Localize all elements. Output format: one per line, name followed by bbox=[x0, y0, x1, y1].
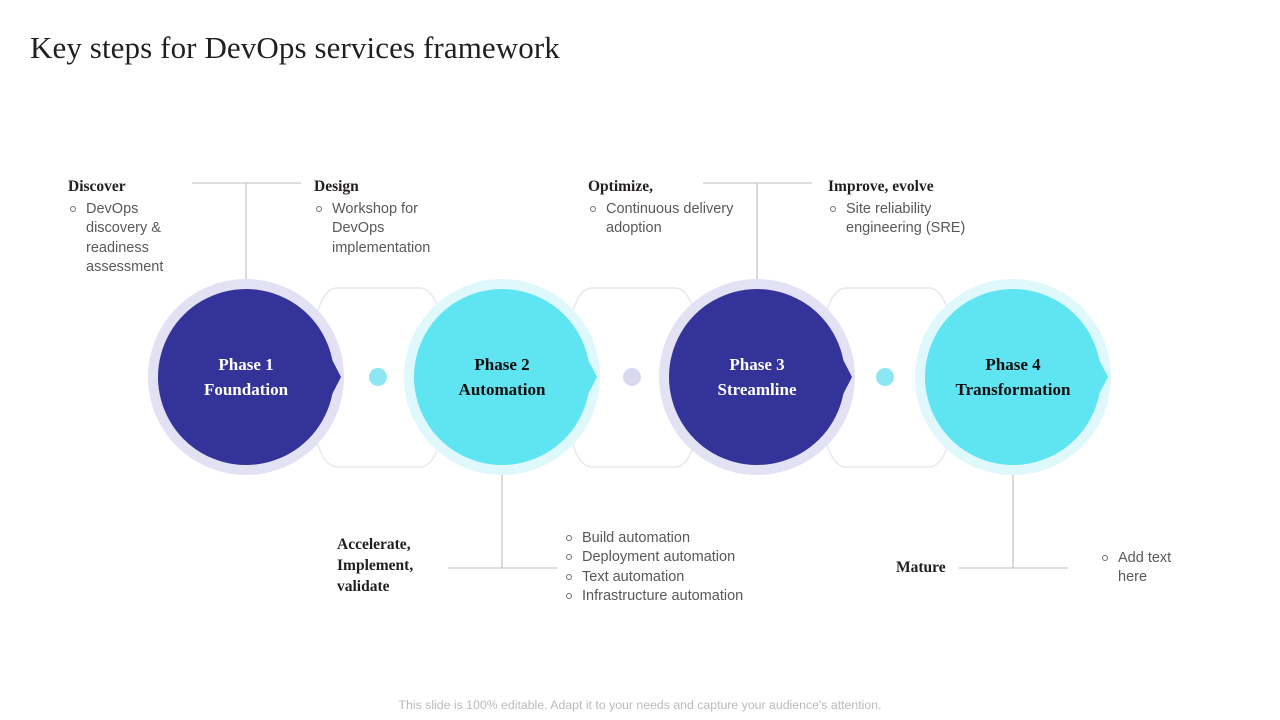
callout-improve-heading: Improve, evolve bbox=[828, 176, 998, 197]
list-item-text: Text automation bbox=[582, 569, 684, 585]
callout-accelerate-bullets-block: Build automation Deployment automation T… bbox=[564, 529, 794, 606]
list-item-text: DevOps discovery & readiness assessment bbox=[86, 201, 163, 275]
callout-mature-bullets-block: Add text here bbox=[1100, 549, 1200, 588]
phase-2-node[interactable] bbox=[404, 279, 600, 475]
callout-optimize: Optimize, Continuous delivery adoption bbox=[588, 176, 748, 239]
list-item-text: Workshop for DevOps implementation bbox=[332, 201, 430, 256]
callout-design-heading: Design bbox=[314, 176, 438, 197]
bullet-circle-icon bbox=[316, 206, 322, 212]
callout-improve-bullets: Site reliability engineering (SRE) bbox=[828, 200, 998, 239]
process-diagram bbox=[0, 0, 1280, 720]
callout-optimize-bullets: Continuous delivery adoption bbox=[588, 200, 748, 239]
phase-3-node[interactable] bbox=[659, 279, 855, 475]
list-item-text: Infrastructure automation bbox=[582, 588, 743, 604]
list-item: Add text here bbox=[1100, 549, 1200, 588]
list-item: Continuous delivery adoption bbox=[588, 200, 748, 239]
callout-discover-heading: Discover bbox=[68, 176, 188, 197]
bullet-circle-icon bbox=[566, 593, 572, 599]
phase-1-node[interactable] bbox=[148, 279, 344, 475]
list-item: Build automation bbox=[564, 529, 794, 548]
phase-1-shape bbox=[158, 289, 334, 465]
bullet-circle-icon bbox=[590, 206, 596, 212]
list-item: Site reliability engineering (SRE) bbox=[828, 200, 998, 239]
footer-note: This slide is 100% editable. Adapt it to… bbox=[0, 698, 1280, 712]
slide-canvas: Key steps for DevOps services framework bbox=[0, 0, 1280, 720]
bullet-circle-icon bbox=[566, 554, 572, 560]
list-item: DevOps discovery & readiness assessment bbox=[68, 200, 188, 277]
bullet-circle-icon bbox=[566, 535, 572, 541]
list-item-text: Add text here bbox=[1118, 550, 1171, 585]
list-item: Infrastructure automation bbox=[564, 587, 794, 606]
callout-mature-heading: Mature bbox=[896, 557, 976, 578]
connector-dot-2 bbox=[623, 368, 641, 386]
phase-3-shape bbox=[669, 289, 845, 465]
list-item-text: Continuous delivery adoption bbox=[606, 201, 733, 236]
phase-4-node[interactable] bbox=[915, 279, 1111, 475]
callout-mature-heading-block: Mature bbox=[896, 557, 976, 581]
callout-mature-bullets: Add text here bbox=[1100, 549, 1200, 588]
callout-design-bullets: Workshop for DevOps implementation bbox=[314, 200, 438, 258]
callout-discover-bullets: DevOps discovery & readiness assessment bbox=[68, 200, 188, 277]
bullet-circle-icon bbox=[1102, 555, 1108, 561]
bullet-circle-icon bbox=[70, 206, 76, 212]
callout-accelerate-bullets: Build automation Deployment automation T… bbox=[564, 529, 794, 606]
list-item: Workshop for DevOps implementation bbox=[314, 200, 438, 258]
callout-accelerate-heading-block: Accelerate, Implement, validate bbox=[337, 534, 443, 600]
bullet-circle-icon bbox=[566, 574, 572, 580]
phase-2-shape bbox=[414, 289, 590, 465]
list-item-text: Deployment automation bbox=[582, 549, 735, 565]
list-item-text: Build automation bbox=[582, 530, 690, 546]
callout-optimize-heading: Optimize, bbox=[588, 176, 748, 197]
list-item: Deployment automation bbox=[564, 548, 794, 567]
callout-accelerate-heading: Accelerate, Implement, validate bbox=[337, 534, 443, 597]
callout-design: Design Workshop for DevOps implementatio… bbox=[314, 176, 438, 258]
connector-dot-3 bbox=[876, 368, 894, 386]
callout-discover: Discover DevOps discovery & readiness as… bbox=[68, 176, 188, 277]
bullet-circle-icon bbox=[830, 206, 836, 212]
callout-improve: Improve, evolve Site reliability enginee… bbox=[828, 176, 998, 239]
list-item-text: Site reliability engineering (SRE) bbox=[846, 201, 965, 236]
phase-4-shape bbox=[925, 289, 1101, 465]
list-item: Text automation bbox=[564, 568, 794, 587]
connector-dot-1 bbox=[369, 368, 387, 386]
